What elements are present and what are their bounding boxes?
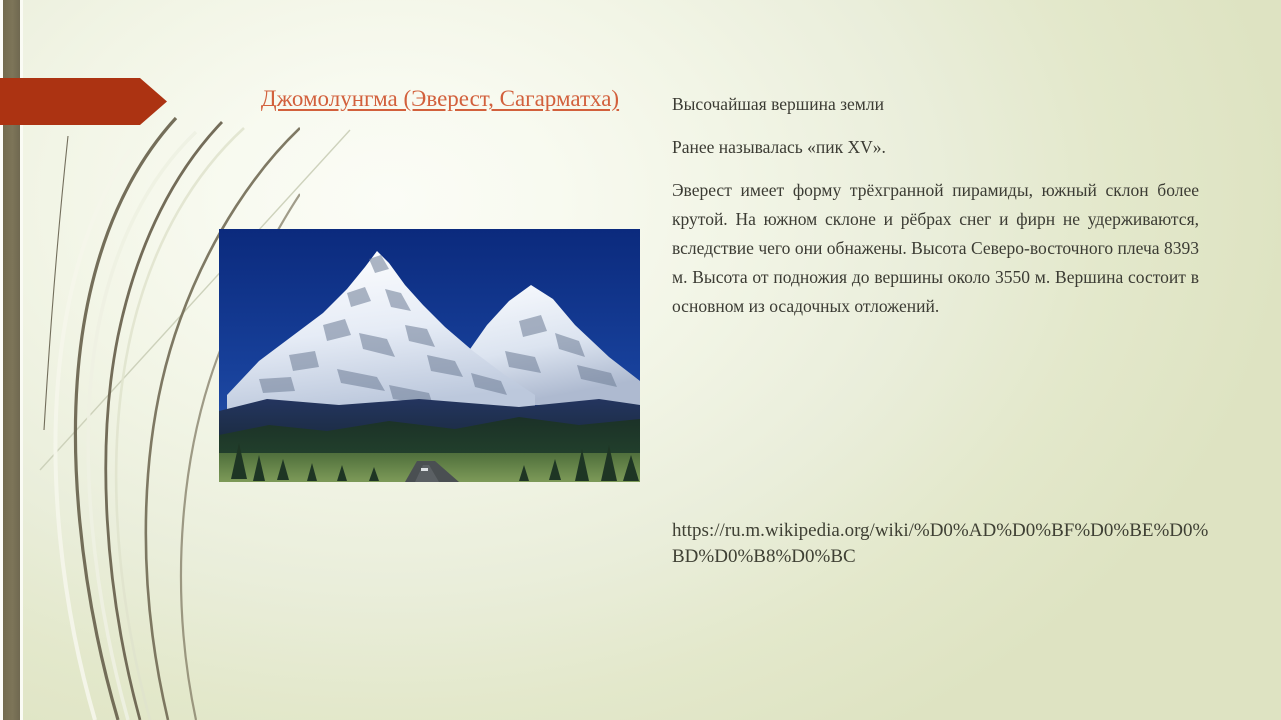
- body-paragraph-3: Эверест имеет форму трёхгранной пирамиды…: [672, 176, 1199, 321]
- source-url[interactable]: https://ru.m.wikipedia.org/wiki/%D0%AD%D…: [672, 518, 1212, 570]
- red-arrow-banner: [0, 78, 167, 125]
- mountain-photo: [219, 229, 640, 482]
- body-text-column: Высочайшая вершина земли Ранее называлас…: [672, 90, 1199, 321]
- mountain-photo-graphic: [219, 229, 640, 482]
- slide-title: Джомолунгма (Эверест, Сагарматха): [230, 83, 650, 114]
- slide-canvas: Джомолунгма (Эверест, Сагарматха): [0, 0, 1281, 720]
- body-paragraph-2: Ранее называлась «пик XV».: [672, 133, 1199, 162]
- body-paragraph-1: Высочайшая вершина земли: [672, 90, 1199, 119]
